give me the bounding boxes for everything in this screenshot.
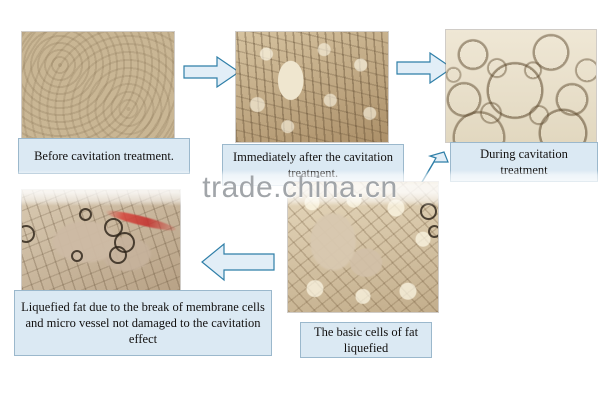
membrane-ring (109, 246, 127, 264)
membrane-ring (71, 250, 83, 262)
photo-immediately-after-cavitation (236, 32, 388, 142)
caption-immediately-after-cavitation: Immediately after the cavitation treatme… (222, 144, 404, 186)
membrane-ring (420, 203, 437, 220)
membrane-ring (428, 225, 439, 238)
caption-text: The basic cells of fat liquefied (305, 324, 427, 356)
photo-before-cavitation (22, 32, 174, 142)
membrane-ring (22, 225, 35, 243)
caption-text: Immediately after the cavitation treatme… (227, 149, 399, 181)
flow-diagram-canvas: Before cavitation treatment. Immediately… (0, 0, 600, 400)
caption-liquefied-fat-membrane-break: Liquefied fat due to the break of membra… (14, 290, 272, 356)
photo-liquefied-fat-membrane-break (22, 190, 180, 290)
caption-text: During cavitation treatment (455, 146, 593, 178)
caption-during-cavitation: During cavitation treatment (450, 142, 598, 182)
caption-text: Before cavitation treatment. (23, 148, 185, 164)
photo-basic-cells-fat-liquefied (288, 182, 438, 312)
caption-before-cavitation: Before cavitation treatment. (18, 138, 190, 174)
arrow-left-4 (200, 240, 276, 286)
caption-text: Liquefied fat due to the break of membra… (19, 299, 267, 347)
membrane-ring (79, 208, 92, 221)
photo-during-cavitation (446, 30, 596, 142)
caption-basic-cells-fat-liquefied: The basic cells of fat liquefied (300, 322, 432, 358)
arrow-right-1 (183, 52, 241, 92)
